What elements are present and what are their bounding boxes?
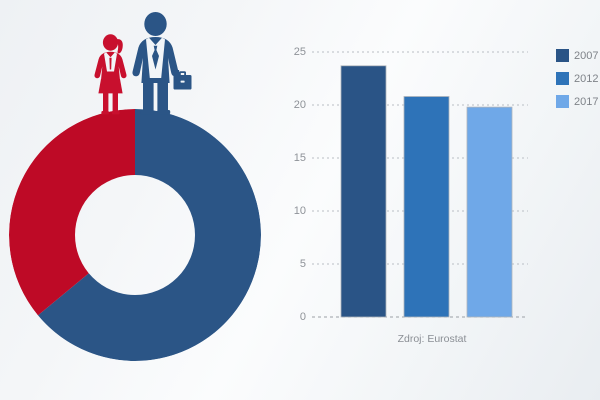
woman-figure-icon: [94, 34, 126, 114]
chart-y-axis: 25 20 15 10 5 0: [294, 46, 306, 323]
woman-foot-right: [112, 111, 120, 114]
man-arm-briefcase: [176, 70, 180, 77]
legend-swatch-2012: [556, 72, 569, 85]
legend-swatch-2007: [556, 49, 569, 62]
legend-swatch-2017: [556, 95, 569, 108]
donut-panel: [0, 0, 270, 400]
legend-label-2012: 2012: [574, 73, 598, 85]
businessman-figure-icon: [132, 12, 191, 114]
chart-bars: [341, 66, 512, 317]
gender-share-donut: [4, 104, 266, 366]
infographic-canvas: 25 20 15 10 5 0 Zdroj: Eurostat 2007 201: [0, 0, 600, 400]
legend-label-2007: 2007: [574, 50, 598, 62]
eurostat-bar-chart: 25 20 15 10 5 0 Zdroj: Eurostat 2007 201: [284, 34, 600, 374]
bar-2017[interactable]: [467, 107, 512, 317]
y-tick-25: 25: [294, 46, 306, 58]
woman-foot-left: [101, 111, 109, 114]
people-pictogram-group: [84, 8, 202, 120]
bar-2007[interactable]: [341, 66, 386, 317]
woman-skirt: [98, 79, 122, 93]
y-tick-10: 10: [294, 205, 306, 217]
bar-2012[interactable]: [404, 97, 449, 318]
y-tick-5: 5: [300, 258, 306, 270]
y-tick-15: 15: [294, 152, 306, 164]
y-tick-20: 20: [294, 99, 306, 111]
woman-head: [103, 34, 118, 50]
man-leg-left: [143, 82, 154, 113]
y-tick-0: 0: [300, 311, 306, 323]
chart-legend: 2007 2012 2017: [556, 49, 598, 108]
legend-label-2017: 2017: [574, 96, 598, 108]
man-foot-right: [157, 110, 170, 114]
man-leg-right: [157, 82, 168, 113]
man-head: [144, 12, 166, 36]
source-note: Zdroj: Eurostat: [398, 333, 467, 345]
woman-leg-right: [113, 93, 118, 113]
woman-leg-left: [103, 93, 108, 113]
man-foot-left: [141, 110, 154, 114]
bar-chart-panel: 25 20 15 10 5 0 Zdroj: Eurostat 2007 201: [284, 34, 600, 374]
